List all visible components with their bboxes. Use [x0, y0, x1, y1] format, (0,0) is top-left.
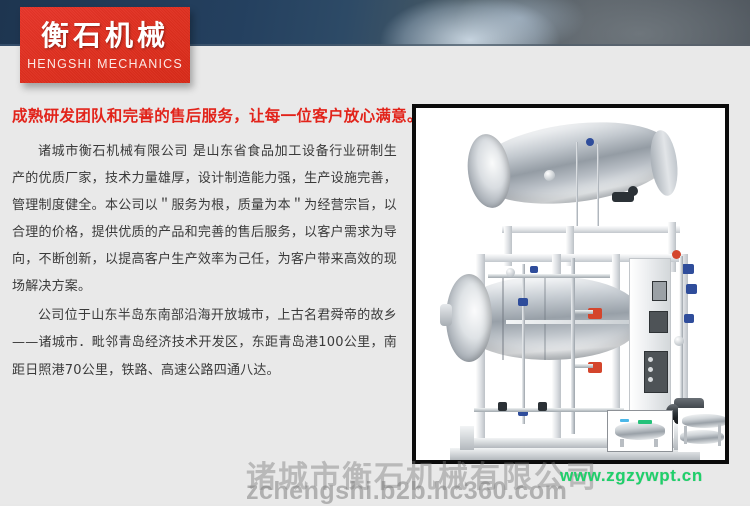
red-valve-stem-lower — [575, 364, 593, 368]
lower-vertical-pipe-left — [522, 264, 525, 424]
watermark-hc360-url: zchengshi.b2b.hc360.com — [246, 477, 567, 506]
product-image — [416, 108, 725, 460]
right-blue-valve-2 — [686, 284, 697, 294]
watermark-green-url: www.zgzywpt.cn — [560, 466, 703, 486]
lower-vessel-hinge — [440, 304, 452, 326]
cabinet-button-2[interactable] — [648, 367, 653, 372]
manifold-blue-valve — [530, 266, 538, 273]
bottom-valve-1 — [498, 402, 507, 411]
profile-paragraph-2: 公司位于山东半岛东南部沿海开放城市，上古名君舜帝的故乡——诸城市．毗邻青岛经济技… — [12, 302, 397, 383]
bottom-manifold-pipe — [474, 408, 624, 412]
upper-vertical-pipe-2 — [597, 144, 599, 230]
thumbnail-boxed-vessel — [615, 422, 665, 440]
logo-english-name: HENGSHI MECHANICS — [27, 57, 183, 71]
company-logo[interactable]: 衡石机械 HENGSHI MECHANICS — [20, 7, 190, 83]
right-blue-valve-3 — [684, 314, 694, 323]
thumbnail-plain-vessel-top — [682, 414, 728, 428]
thumbnail-boxed[interactable] — [607, 410, 673, 452]
lower-vessel-door — [446, 274, 492, 362]
upper-valve-wheel — [628, 186, 638, 196]
profile-paragraph-1: 诸城市衡石机械有限公司 是山东省食品加工设备行业研制生产的优质厂家，技术力量雄厚… — [12, 138, 397, 300]
upper-blue-valve — [586, 138, 594, 146]
upper-gauge-icon — [544, 170, 555, 181]
upper-vertical-pipe — [576, 142, 578, 226]
thumbnail-boxed-leg-left — [620, 439, 624, 447]
cabinet-button-3[interactable] — [648, 377, 653, 382]
company-profile-text: 成熟研发团队和完善的售后服务，让每一位客户放心满意。 诸城市衡石机械有限公司 是… — [12, 105, 397, 386]
page-title: 成熟研发团队和完善的售后服务，让每一位客户放心满意。 — [12, 105, 397, 128]
thumbnail-plain-leg-right — [718, 424, 721, 446]
control-cabinet[interactable] — [629, 258, 671, 428]
base-foot-left — [460, 426, 474, 450]
thumbnail-boxed-accent-blue — [620, 419, 629, 422]
upper-frame-rail — [502, 226, 680, 233]
logo-chinese-name: 衡石机械 — [41, 22, 169, 50]
vessel-band-2 — [544, 276, 546, 360]
red-valve-stem-upper — [575, 310, 593, 314]
product-image-frame[interactable] — [412, 104, 729, 464]
bottom-valve-2 — [538, 402, 547, 411]
right-gauge-icon — [674, 336, 684, 346]
cabinet-button-1[interactable] — [648, 357, 653, 362]
cabinet-display-screen[interactable] — [649, 311, 668, 333]
upper-vessel-end — [647, 129, 681, 198]
cabinet-vent — [652, 281, 667, 301]
page-root: 衡石机械 HENGSHI MECHANICS 成熟研发团队和完善的售后服务，让每… — [0, 0, 750, 504]
right-blue-valve-1 — [682, 264, 694, 274]
manifold-gauge-icon — [506, 268, 515, 277]
thumbnail-plain-leg-left — [684, 426, 687, 444]
thumbnail-boxed-leg-right — [654, 439, 658, 447]
lower-blue-valve-upper — [518, 298, 528, 306]
vessel-band-1 — [502, 276, 504, 360]
thumbnail-plain[interactable] — [678, 408, 729, 452]
right-riser-pipe — [680, 256, 683, 406]
thumbnail-boxed-accent-green — [638, 420, 652, 424]
